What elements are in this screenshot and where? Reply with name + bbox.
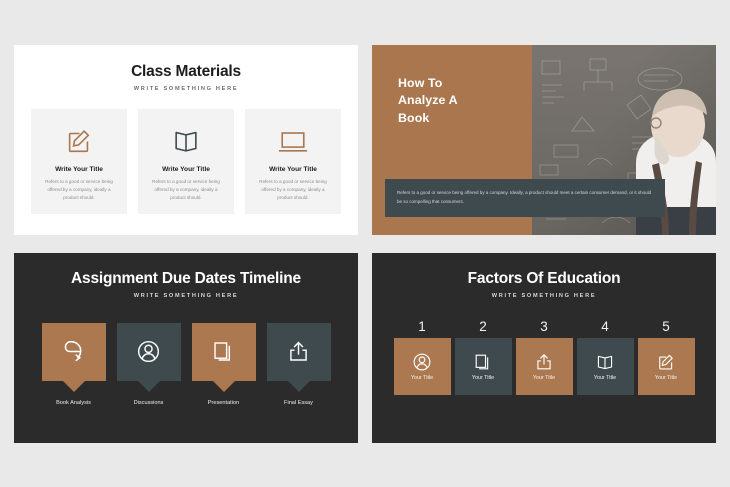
open-book-icon [171,121,201,161]
heading-line-3: Book [398,110,458,128]
compose-icon [656,352,676,372]
factor-title: Your Title [472,375,494,381]
curved-arrow-icon [61,339,86,364]
card-title: Write Your Title [269,166,317,173]
timeline-label: Book Analysis [56,400,91,406]
factor-title: Your Title [594,375,616,381]
slide-heading: How To Analyze A Book [398,75,458,128]
timeline-tag[interactable] [267,323,331,381]
timeline-tag[interactable] [192,323,256,381]
user-circle-icon [136,339,161,364]
timeline-label: Final Essay [284,400,313,406]
factor-number: 2 [479,319,487,334]
factor-item[interactable]: 1 Your Title [394,319,451,395]
slide-class-materials[interactable]: Class Materials WRITE SOMETHING HERE Wri… [14,45,358,235]
factors-row: 1 Your Title 2 [386,319,702,395]
factor-item[interactable]: 2 Your Title [455,319,512,395]
card-body: Refers to a good or service being offere… [40,178,118,203]
factor-tile[interactable]: Your Title [577,338,634,395]
factor-item[interactable]: 3 Your Title [516,319,573,395]
card-body: Refers to a good or service being offere… [147,178,225,203]
factor-tile[interactable]: Your Title [455,338,512,395]
factor-item[interactable]: 4 Your Title [577,319,634,395]
open-book-icon [595,352,615,372]
timeline-item[interactable]: Book Analysis [42,323,106,406]
copy-icon [473,352,493,372]
compose-icon [64,121,94,161]
timeline-item[interactable]: Discussions [117,323,181,406]
page-title: Factors Of Education [386,270,702,288]
user-circle-icon [412,352,432,372]
factor-number: 1 [418,319,426,334]
card-title: Write Your Title [162,166,210,173]
factor-number: 4 [601,319,609,334]
slide-assignment-timeline[interactable]: Assignment Due Dates Timeline WRITE SOME… [14,253,358,443]
factor-number: 5 [662,319,670,334]
timeline-item[interactable]: Final Essay [267,323,331,406]
laptop-icon [276,121,310,161]
materials-card[interactable]: Write Your Title Refers to a good or ser… [31,109,127,214]
page-subtitle: WRITE SOMETHING HERE [30,86,342,92]
factor-tile[interactable]: Your Title [394,338,451,395]
factor-title: Your Title [655,375,677,381]
factor-title: Your Title [533,375,555,381]
slide-deck-preview: Class Materials WRITE SOMETHING HERE Wri… [0,0,730,487]
materials-card-row: Write Your Title Refers to a good or ser… [30,109,342,214]
timeline-item[interactable]: Presentation [192,323,256,406]
factor-number: 3 [540,319,548,334]
timeline-row: Book Analysis Discussions [30,323,342,406]
page-subtitle: WRITE SOMETHING HERE [30,293,342,299]
factor-tile[interactable]: Your Title [638,338,695,395]
share-icon [286,339,311,364]
factor-title: Your Title [411,375,433,381]
timeline-tag[interactable] [117,323,181,381]
factor-item[interactable]: 5 Your Title [638,319,695,395]
page-subtitle: WRITE SOMETHING HERE [386,293,702,299]
share-icon [534,352,554,372]
card-title: Write Your Title [55,166,103,173]
materials-card[interactable]: Write Your Title Refers to a good or ser… [138,109,234,214]
materials-card[interactable]: Write Your Title Refers to a good or ser… [245,109,341,214]
factor-tile[interactable]: Your Title [516,338,573,395]
slide-how-to-analyze-a-book[interactable]: How To Analyze A Book Refers to a good o… [372,45,716,235]
timeline-tag[interactable] [42,323,106,381]
timeline-label: Presentation [208,400,239,406]
caption-bar: Refers to a good or service being offere… [385,179,665,217]
page-title: Class Materials [30,63,342,81]
heading-line-2: Analyze A [398,92,458,110]
card-body: Refers to a good or service being offere… [254,178,332,203]
heading-line-1: How To [398,75,458,93]
page-title: Assignment Due Dates Timeline [30,270,342,288]
slide-factors-of-education[interactable]: Factors Of Education WRITE SOMETHING HER… [372,253,716,443]
copy-icon [211,339,236,364]
timeline-label: Discussions [134,400,164,406]
